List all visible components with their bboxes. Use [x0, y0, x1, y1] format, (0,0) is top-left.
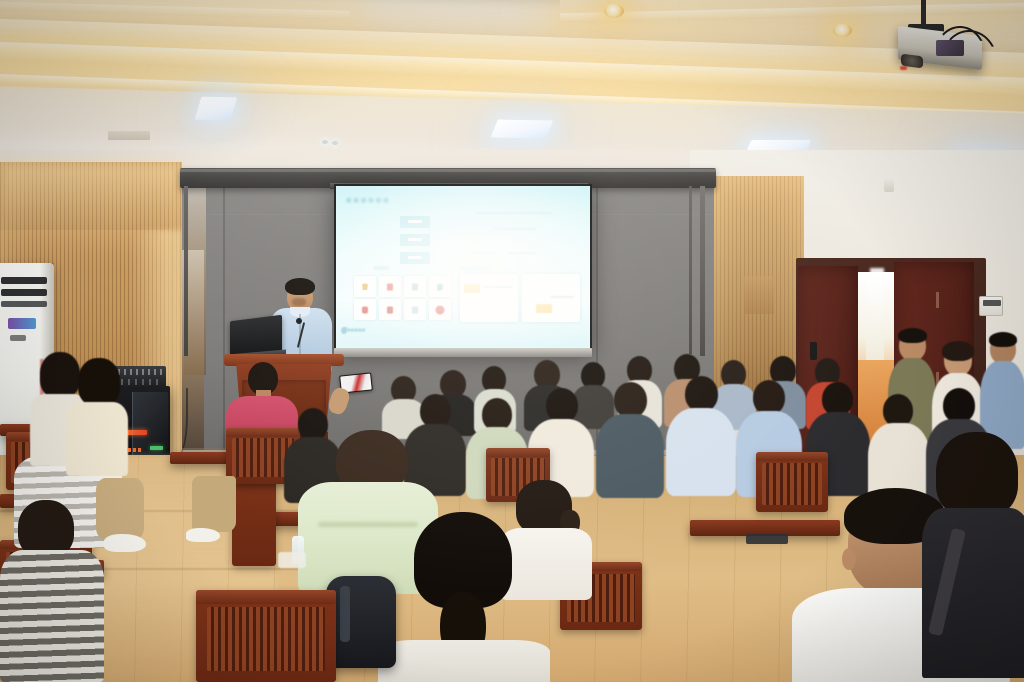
lecture-hall-photo: ■■■■■■ ■■■■ ■■■■■■■■	[0, 0, 1024, 682]
hair	[898, 328, 927, 343]
attendee-dark-left-front	[0, 500, 104, 682]
grid-icon	[412, 283, 418, 290]
slide-text-line-3	[468, 252, 498, 254]
ac-display-panel[interactable]	[8, 318, 36, 329]
attendee-bag-woman-right	[922, 432, 1024, 682]
wall-switch-plate[interactable]	[979, 296, 1003, 316]
chair-top-rail	[196, 590, 336, 604]
chair-front-center[interactable]	[196, 590, 336, 682]
chair-slats	[207, 607, 325, 671]
projector-pole	[921, 0, 926, 26]
head	[753, 380, 785, 415]
panel-light-1	[195, 97, 237, 121]
slide-icon-tile-4	[429, 276, 451, 297]
ear	[842, 548, 856, 570]
projector-indicator-light	[900, 66, 907, 70]
slide-card-1-line	[484, 286, 512, 288]
attendee-mid-5	[596, 382, 664, 494]
papers-on-desk[interactable]	[746, 534, 788, 544]
slide-icon-tile-8	[429, 299, 451, 320]
head	[822, 382, 853, 416]
door-hinge-1	[936, 292, 939, 308]
slide-chip-2	[400, 234, 430, 246]
drop-icon	[437, 283, 443, 290]
slide-icon-tile-2	[379, 276, 401, 297]
panel-light-2	[491, 120, 554, 139]
hair	[989, 332, 1017, 347]
note-icon	[412, 306, 418, 313]
slide-title: ■■■■■■	[346, 195, 391, 205]
switch-rocker[interactable]	[983, 300, 1001, 306]
microphone-head	[296, 318, 302, 324]
projection-screen-surface: ■■■■■■ ■■■■ ■■■■■■■■	[336, 186, 590, 348]
slide-chip-1	[400, 216, 430, 228]
body	[666, 408, 736, 496]
slide-card-2-line	[550, 296, 574, 298]
head	[546, 388, 578, 423]
ceiling	[0, 0, 1024, 158]
head	[685, 376, 718, 412]
downlight-1	[604, 4, 624, 18]
slide-text-line-2	[494, 228, 536, 230]
ceiling-spot-1	[322, 140, 328, 144]
ceiling-spot-2	[332, 141, 338, 145]
head	[614, 382, 647, 418]
slide-text-line-4	[508, 252, 536, 254]
projection-screen-frame: ■■■■■■ ■■■■ ■■■■■■■■	[334, 184, 592, 350]
chair-top-rail	[756, 452, 828, 461]
head	[420, 394, 451, 428]
slide-card-1	[460, 274, 518, 322]
projector-assembly	[890, 0, 1024, 86]
downlight-2	[833, 24, 852, 37]
body	[596, 414, 664, 498]
hair	[78, 358, 120, 406]
slide-text-line-1	[476, 212, 552, 214]
ceiling-vent	[108, 131, 150, 140]
slide-icon-tile-3	[404, 276, 426, 297]
slide-chip-3	[400, 252, 430, 264]
attendee-ponytail-center	[378, 512, 550, 682]
projector-wiring	[936, 40, 964, 56]
attendee-mid-6	[666, 376, 736, 494]
slide-section-label-right: ■■■■■■■■	[460, 266, 489, 272]
attendee-at-mixer-2	[66, 358, 128, 470]
presenter-face-shadow	[292, 298, 306, 306]
backpack-strap	[340, 586, 350, 642]
shield-icon	[362, 283, 368, 290]
seal-icon	[436, 305, 445, 314]
tissue-pack[interactable]	[278, 552, 306, 568]
doc-icon	[387, 283, 393, 290]
body	[378, 640, 550, 682]
attendee-striped-left-shoe	[104, 534, 146, 552]
slide-icon-tile-6	[379, 299, 401, 320]
slide-card-2-accent	[536, 304, 552, 313]
badge-icon	[362, 306, 368, 313]
wall-panel-small	[744, 276, 774, 314]
wall-sensor	[884, 178, 894, 192]
head	[943, 388, 975, 423]
slide-card-1-accent	[464, 284, 480, 293]
presenter-hair	[285, 278, 315, 295]
slide-section-label-left: ■■■■	[374, 266, 389, 272]
body	[0, 550, 104, 682]
slide-icon-tile-7	[404, 299, 426, 320]
screen-rail-right-2	[689, 186, 692, 354]
box-icon	[387, 306, 393, 313]
door-top-light	[870, 268, 884, 274]
hair	[936, 432, 1018, 518]
slide-card-2	[522, 274, 580, 322]
body	[66, 402, 128, 476]
attendee-mid-9	[868, 394, 930, 502]
slide-icon-tile-1	[354, 276, 376, 297]
chair-top-rail	[486, 448, 550, 457]
slide-icon-tile-5	[354, 299, 376, 320]
screen-housing-highlight	[180, 169, 716, 172]
backpack-on-chair	[326, 576, 396, 668]
